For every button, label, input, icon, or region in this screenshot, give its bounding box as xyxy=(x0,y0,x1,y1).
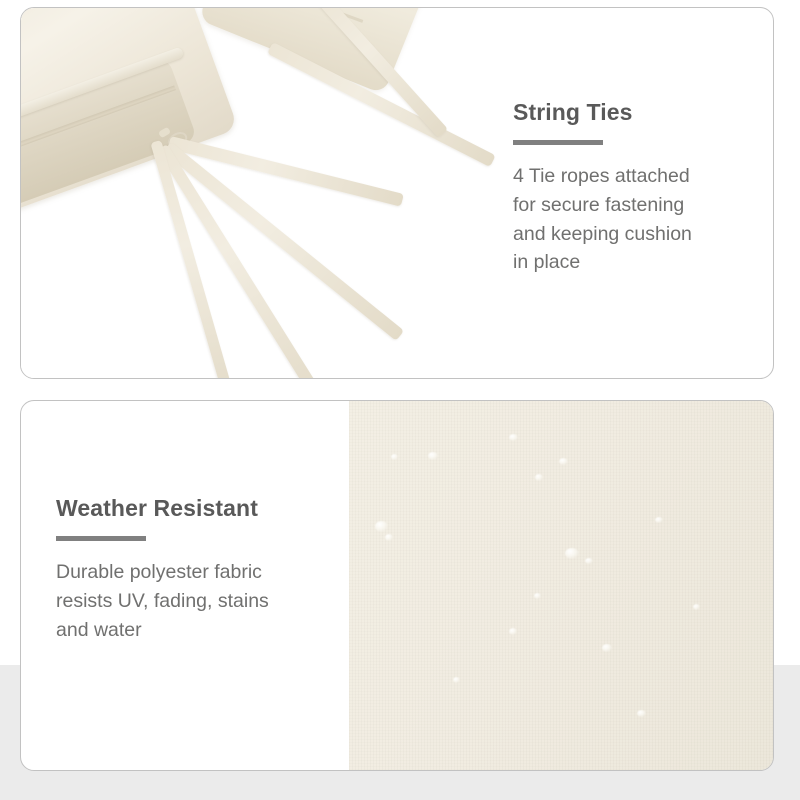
water-droplet xyxy=(453,677,460,683)
body-line: and water xyxy=(56,616,341,645)
body-line: Durable polyester fabric xyxy=(56,558,341,587)
water-droplet xyxy=(565,548,579,559)
water-droplet xyxy=(385,534,393,541)
water-droplet xyxy=(559,458,568,465)
panel-heading: Weather Resistant xyxy=(56,496,341,521)
cushion-string-ties-photo xyxy=(21,8,511,378)
body-line: and keeping cushion xyxy=(513,220,763,249)
product-feature-page: String Ties 4 Tie ropes attached for sec… xyxy=(0,0,800,800)
water-droplet xyxy=(428,452,438,460)
water-droplet xyxy=(509,434,518,441)
water-droplet xyxy=(602,644,612,652)
weather-resistant-text-block: Weather Resistant Durable polyester fabr… xyxy=(56,496,341,644)
water-droplet xyxy=(637,710,646,717)
body-line: resists UV, fading, stains xyxy=(56,587,341,616)
panel-body-text: 4 Tie ropes attached for secure fastenin… xyxy=(513,162,763,277)
water-droplet xyxy=(534,593,541,599)
body-line: for secure fastening xyxy=(513,191,763,220)
feature-panel-string-ties: String Ties 4 Tie ropes attached for sec… xyxy=(20,7,774,379)
heading-accent-bar xyxy=(513,140,603,145)
heading-accent-bar xyxy=(56,536,146,541)
body-line: 4 Tie ropes attached xyxy=(513,162,763,191)
water-droplet xyxy=(655,517,663,523)
feature-panel-weather-resistant: Weather Resistant Durable polyester fabr… xyxy=(20,400,774,771)
weather-resistant-fabric-photo xyxy=(349,401,774,770)
water-droplet xyxy=(693,604,700,610)
string-ties-text-block: String Ties 4 Tie ropes attached for sec… xyxy=(513,100,763,277)
water-droplet xyxy=(585,558,593,564)
body-line: in place xyxy=(513,248,763,277)
panel-body-text: Durable polyester fabric resists UV, fad… xyxy=(56,558,341,644)
water-droplet xyxy=(535,474,543,481)
water-droplet xyxy=(509,628,517,635)
water-droplet xyxy=(391,454,398,460)
panel-heading: String Ties xyxy=(513,100,763,125)
water-droplet xyxy=(375,521,388,532)
